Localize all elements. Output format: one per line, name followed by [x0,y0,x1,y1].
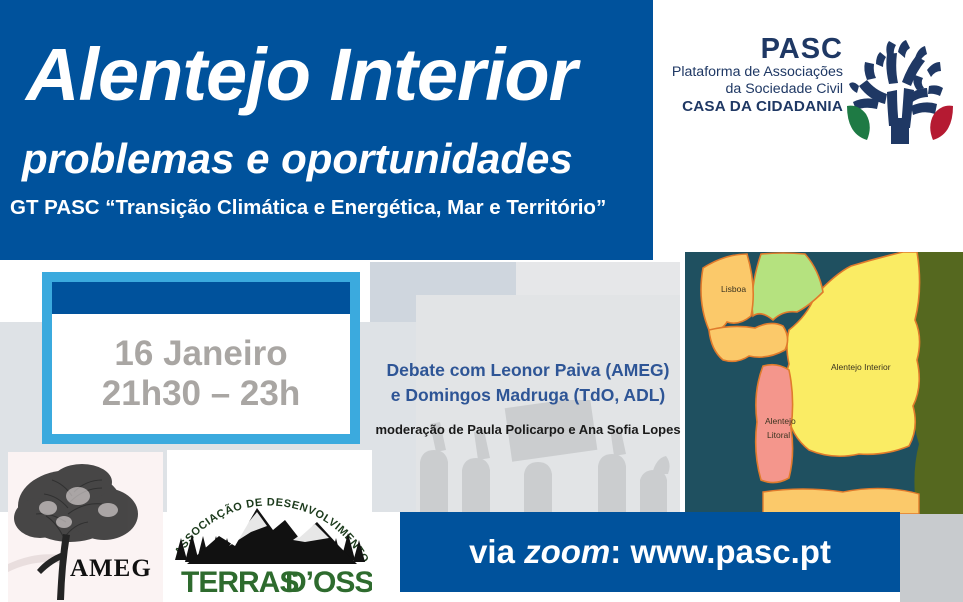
zoom-url: www.pasc.pt [630,533,830,570]
page-subtitle: problemas e oportunidades [22,138,573,180]
workgroup-label: GT PASC “Transição Climática e Energétic… [10,198,606,219]
debate-info-block: Debate com Leonor Paiva (AMEG) e Domingo… [368,358,688,437]
map-label-lisboa: Lisboa [721,284,746,294]
pasc-logo: PASC Plataforma de Associações da Socied… [655,34,955,152]
event-date-card: 16 Janeiro 21h30 – 23h [42,272,360,444]
partner-logo-dossa-word: D’OSSA [285,566,372,598]
partner-logo-ameg: AMEG [8,452,163,602]
page-title: Alentejo Interior [26,38,576,112]
zoom-link-text: via zoom: www.pasc.pt [469,533,831,571]
pasc-wordmark: PASC Plataforma de Associações da Socied… [672,34,843,116]
debate-speakers-line-1: Debate com Leonor Paiva (AMEG) [368,358,688,383]
tree-icon [845,36,955,148]
partner-logo-terras-dossa: ASSOCIAÇÃO DE DESENVOLVIMENTO LOCAL DA S… [167,450,372,598]
event-time: 21h30 – 23h [102,374,300,414]
poster-canvas: Alentejo Interior problemas e oportunida… [0,0,963,602]
map-label-alentejo-interior: Alentejo Interior [831,362,891,372]
pasc-tagline-line-2: da Sociedade Civil [672,81,843,98]
zoom-separator: : [610,533,630,570]
poster-header: Alentejo Interior problemas e oportunida… [0,0,653,260]
debate-speakers-line-2: e Domingos Madruga (TdO, ADL) [368,383,688,408]
zoom-platform: zoom [524,533,610,570]
partner-logo-ameg-label: AMEG [70,555,152,583]
event-date-card-band [52,282,350,314]
partner-logo-terras-word: TERRAS [181,566,298,598]
alentejo-region-map: Lisboa Alentejo Interior Alentejo Litora… [685,252,963,514]
map-label-alentejo-litoral-2: Litoral [767,430,790,440]
event-date-text-group: 16 Janeiro 21h30 – 23h [52,314,350,434]
map-label-alentejo-litoral-1: Alentejo [765,416,796,426]
event-date-card-inner: 16 Janeiro 21h30 – 23h [52,282,350,434]
pasc-tagline-line-3: CASA DA CIDADANIA [672,98,843,116]
event-date: 16 Janeiro [114,334,287,374]
zoom-link-banner[interactable]: via zoom: www.pasc.pt [400,512,900,592]
pasc-tagline-line-1: Plataforma de Associações [672,64,843,81]
debate-moderation: moderação de Paula Policarpo e Ana Sofia… [368,422,688,437]
zoom-prefix: via [469,533,524,570]
pasc-name: PASC [672,34,843,64]
